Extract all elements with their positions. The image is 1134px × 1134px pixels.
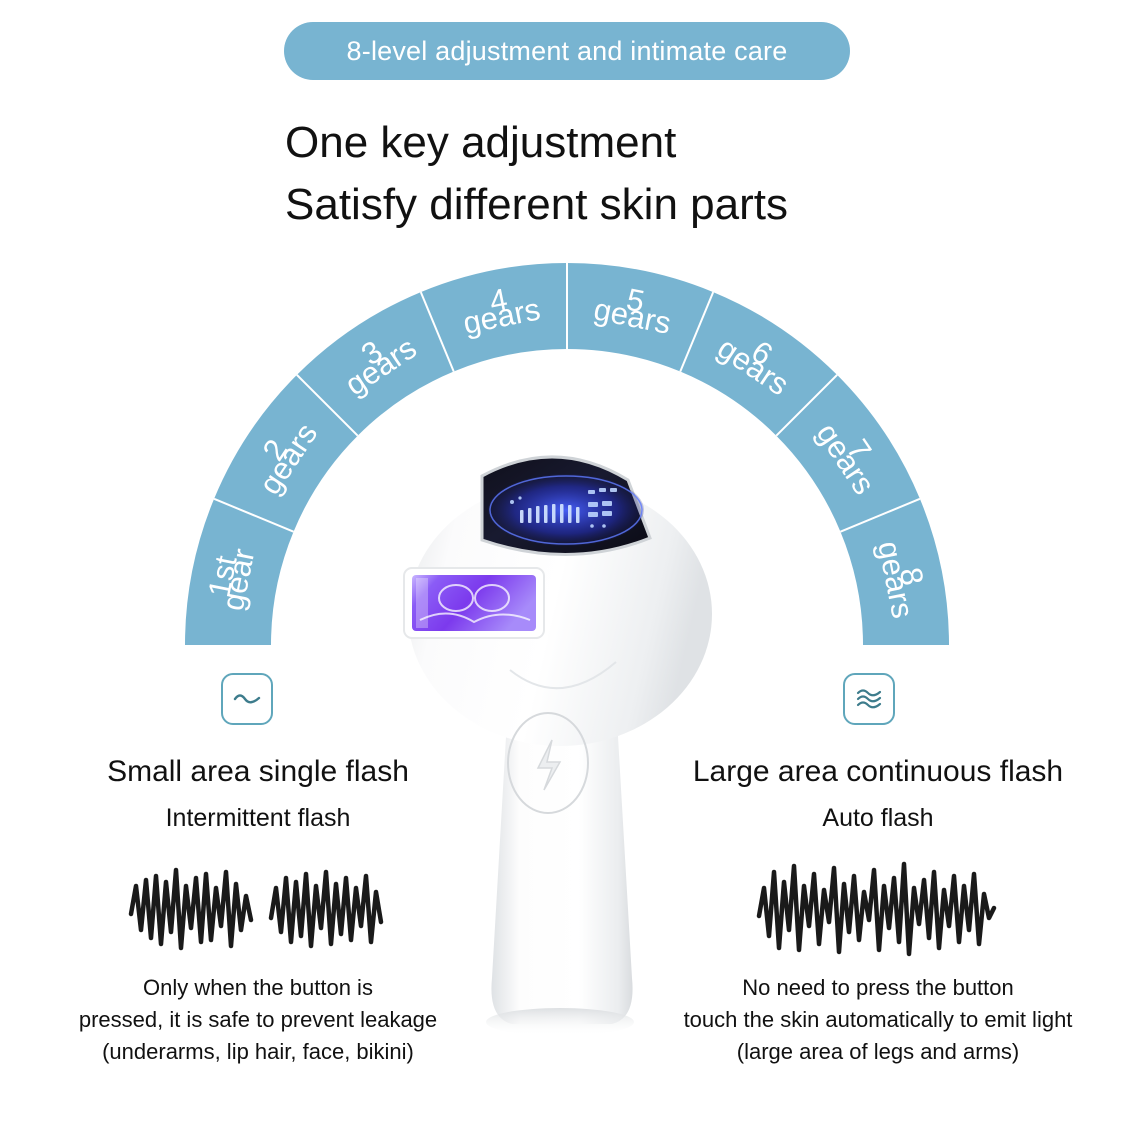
- headline-banner: 8-level adjustment and intimate care: [284, 22, 850, 80]
- device-flash-window: [404, 568, 544, 638]
- arc-segment-2[interactable]: [214, 375, 358, 532]
- arc-divider-5: [680, 292, 713, 371]
- banner-text: 8-level adjustment and intimate care: [347, 36, 788, 67]
- continuous-flash-description-line-1: No need to press the button: [648, 972, 1108, 1004]
- arc-segment-7[interactable]: [776, 375, 920, 532]
- arc-segment-5-number: 5: [624, 282, 648, 320]
- arc-segment-3-unit: gears: [339, 330, 423, 402]
- intermittent-waveform-svg: [123, 852, 393, 962]
- continuous-flash-description: No need to press the button touch the sk…: [648, 972, 1108, 1068]
- single-flash-description-line-2: pressed, it is safe to prevent leakage: [28, 1004, 488, 1036]
- arc-segment-1-number: 1st: [201, 552, 243, 600]
- arc-segment-3[interactable]: [297, 292, 454, 436]
- continuous-flash-description-line-2: touch the skin automatically to emit lig…: [648, 1004, 1108, 1036]
- arc-segment-2-unit: gears: [252, 417, 324, 501]
- arc-divider-6: [776, 375, 837, 436]
- triple-wave-icon: [854, 686, 884, 712]
- single-flash-mode-badge[interactable]: [221, 673, 273, 725]
- arc-divider-3: [421, 292, 454, 371]
- single-flash-subtitle: Intermittent flash: [28, 800, 488, 836]
- arc-segment-5-unit: gears: [591, 291, 674, 340]
- intermittent-waveform: [28, 852, 488, 962]
- arc-segment-8[interactable]: [840, 499, 949, 645]
- single-flash-description-line-1: Only when the button is: [28, 972, 488, 1004]
- arc-segment-7-unit: gears: [810, 417, 882, 501]
- arc-segment-8-unit: gears: [871, 538, 920, 621]
- arc-segment-8-number: 8: [893, 565, 931, 589]
- arc-segment-5[interactable]: [567, 263, 713, 372]
- arc-segment-4-unit: gears: [460, 291, 543, 340]
- headline-line-2: Satisfy different skin parts: [285, 174, 1085, 236]
- single-flash-description-line-3: (underarms, lip hair, face, bikini): [28, 1036, 488, 1068]
- single-wave-icon: [232, 688, 262, 710]
- arc-divider-1: [214, 499, 293, 532]
- arc-segment-6-number: 6: [745, 334, 779, 373]
- device-display: [482, 457, 650, 555]
- page-title: One key adjustment Satisfy different ski…: [285, 112, 1085, 236]
- headline-line-1: One key adjustment: [285, 112, 1085, 174]
- arc-divider-7: [840, 499, 919, 532]
- arc-divider-2: [297, 375, 358, 436]
- continuous-flash-mode-badge[interactable]: [843, 673, 895, 725]
- single-flash-column: Small area single flash Intermittent fla…: [28, 752, 488, 1068]
- arc-segment-1[interactable]: [185, 499, 294, 645]
- arc-segment-4[interactable]: [421, 263, 567, 372]
- arc-segment-7-number: 7: [840, 433, 879, 467]
- device-shadow: [486, 1008, 634, 1036]
- arc-segment-6[interactable]: [680, 292, 837, 436]
- arc-segment-4-number: 4: [487, 282, 511, 320]
- single-flash-title: Small area single flash: [28, 752, 488, 792]
- continuous-flash-description-line-3: (large area of legs and arms): [648, 1036, 1108, 1068]
- continuous-waveform: [648, 852, 1108, 962]
- arc-segment-2-number: 2: [256, 433, 295, 467]
- continuous-waveform-svg: [753, 852, 1003, 962]
- continuous-flash-title: Large area continuous flash: [648, 752, 1108, 792]
- arc-segment-6-unit: gears: [711, 330, 795, 402]
- continuous-flash-column: Large area continuous flash Auto flash N…: [648, 752, 1108, 1068]
- continuous-flash-subtitle: Auto flash: [648, 800, 1108, 836]
- arc-segment-3-number: 3: [355, 334, 389, 373]
- single-flash-description: Only when the button is pressed, it is s…: [28, 972, 488, 1068]
- arc-segment-1-unit: gear: [215, 546, 261, 614]
